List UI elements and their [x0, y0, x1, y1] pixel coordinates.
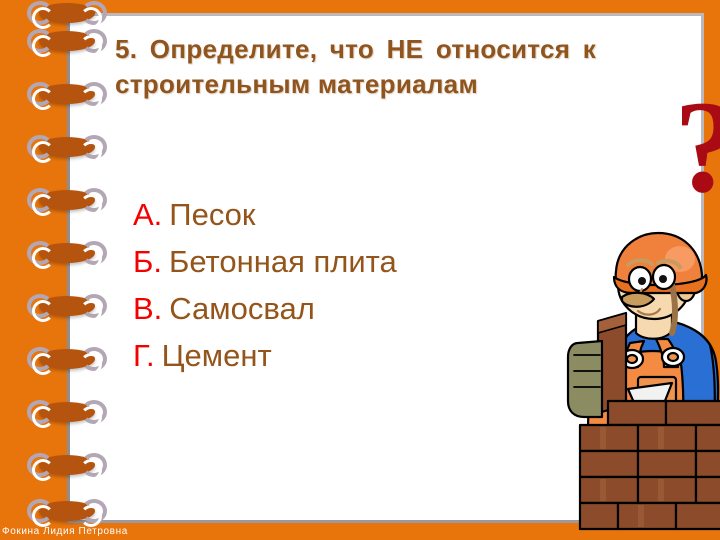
construction-worker-illustration: [560, 231, 720, 531]
spiral-ring: [27, 0, 107, 26]
spiral-ring: [27, 452, 107, 478]
spiral-ring: [27, 187, 107, 213]
spiral-ring: [27, 28, 107, 54]
notepad-page: 5. Определите, что НЕ относится к строит…: [67, 13, 704, 523]
question-mark-icon: ?: [662, 88, 720, 206]
page-title-line-1: 5. Определите, что НЕ относится к: [115, 32, 675, 67]
option-label-a: Песок: [169, 197, 255, 232]
option-letter-v: В.: [133, 291, 162, 326]
option-letter-b: Б.: [133, 244, 162, 279]
list-item[interactable]: В.Самосвал: [133, 285, 563, 332]
spiral-ring: [27, 498, 107, 524]
answer-options-list: А.Песок Б.Бетонная плита В.Самосвал Г.Це…: [133, 191, 563, 379]
option-label-g: Цемент: [162, 338, 272, 373]
author-watermark: Фокина Лидия Петровна: [2, 526, 128, 537]
option-letter-g: Г.: [133, 338, 155, 373]
spiral-ring: [27, 134, 107, 160]
slide-canvas: 5. Определите, что НЕ относится к строит…: [0, 0, 720, 540]
page-title-line-2: строительным материалам: [115, 67, 675, 102]
list-item[interactable]: А.Песок: [133, 191, 563, 238]
option-label-v: Самосвал: [169, 291, 314, 326]
spiral-ring: [27, 346, 107, 372]
spiral-ring: [27, 399, 107, 425]
spiral-ring: [27, 240, 107, 266]
spiral-ring: [27, 81, 107, 107]
list-item[interactable]: Г.Цемент: [133, 332, 563, 379]
page-title: 5. Определите, что НЕ относится к строит…: [115, 32, 675, 101]
spiral-ring: [27, 293, 107, 319]
option-letter-a: А.: [133, 197, 162, 232]
list-item[interactable]: Б.Бетонная плита: [133, 238, 563, 285]
option-label-b: Бетонная плита: [169, 244, 397, 279]
